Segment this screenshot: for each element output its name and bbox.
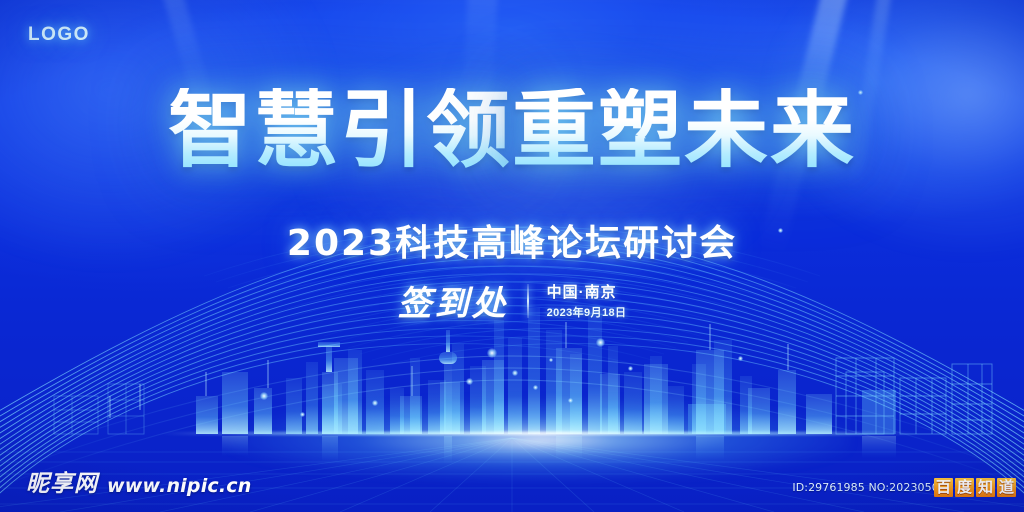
- hero-title-right: 重塑未来: [512, 88, 856, 172]
- event-date: 2023年9月18日: [547, 304, 627, 320]
- logo-text[interactable]: LOGO: [28, 24, 90, 46]
- site-name: 昵享网: [26, 464, 98, 498]
- signin-block: 签到处 中国·南京 2023年9月18日: [0, 276, 1024, 325]
- signin-divider: [527, 284, 529, 318]
- event-location: 中国·南京: [547, 281, 627, 302]
- baidu-char-3: 道: [997, 478, 1016, 497]
- light-particle: [738, 356, 743, 361]
- light-particle: [300, 412, 305, 417]
- hero-subtitle: 2023科技高峰论坛研讨会: [0, 214, 1024, 266]
- light-particle: [549, 358, 553, 362]
- light-particle: [372, 400, 378, 406]
- baidu-char-1: 度: [955, 478, 974, 497]
- hero-title: 智慧引领重塑未来: [0, 88, 1024, 172]
- horizon-glow: [230, 400, 850, 480]
- light-particle: [512, 370, 518, 376]
- signin-meta: 中国·南京 2023年9月18日: [547, 281, 627, 320]
- site-watermark[interactable]: 昵享网 www.nipic.cn: [26, 464, 251, 498]
- light-particle: [260, 392, 268, 400]
- light-particle: [487, 348, 497, 358]
- baidu-zhidao-watermark: 百 度 知 道: [934, 478, 1016, 497]
- light-particle: [533, 385, 538, 390]
- site-url-text: www.nipic.cn: [107, 475, 251, 497]
- event-banner: LOGO 智慧引领重塑未来 2023科技高峰论坛研讨会 签到处 中国·南京 20…: [0, 0, 1024, 512]
- light-particle: [628, 366, 633, 371]
- light-particle: [568, 398, 573, 403]
- light-particle: [466, 378, 473, 385]
- baidu-char-2: 知: [976, 478, 995, 497]
- light-particle: [596, 338, 605, 347]
- asset-watermark: ID:29761985 NO:20230509 百 度 知 道: [792, 478, 1016, 497]
- asset-id-text: ID:29761985 NO:20230509: [792, 481, 946, 494]
- baidu-char-0: 百: [934, 478, 953, 497]
- hero-title-left: 智慧引领: [168, 88, 512, 172]
- signin-label: 签到处: [398, 276, 509, 325]
- horizon-light-line: [160, 432, 920, 435]
